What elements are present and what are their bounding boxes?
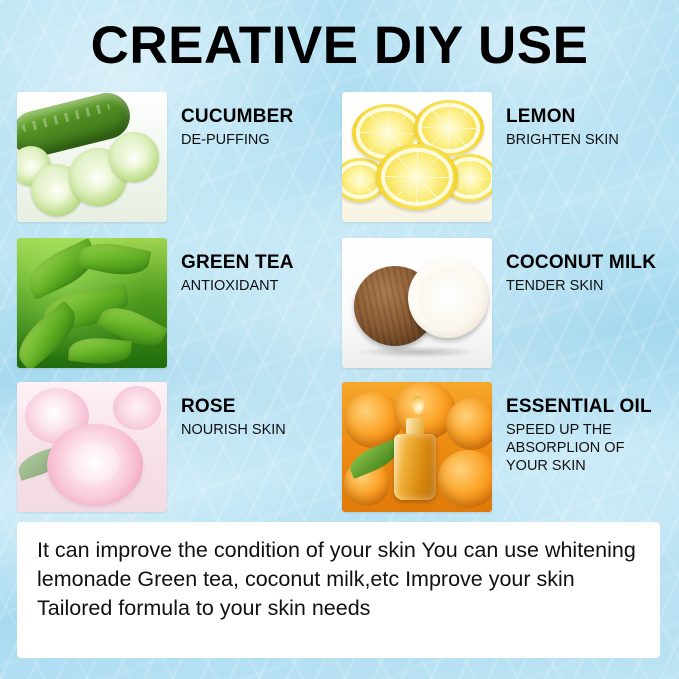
essential-oil-labels: ESSENTIAL OIL SPEED UP THE ABSORPLION OF… bbox=[492, 382, 662, 475]
cucumber-labels: CUCUMBER DE-PUFFING bbox=[167, 92, 293, 150]
product-infographic-poster: CREATIVE DIY USE CUCUMBER DE-PUFFING bbox=[0, 0, 679, 679]
cucumber-slice-shape bbox=[109, 132, 159, 182]
ingredient-benefit: NOURISH SKIN bbox=[181, 422, 286, 440]
footer-description-text: It can improve the condition of your ski… bbox=[37, 536, 642, 624]
coconut-half-shape bbox=[408, 258, 488, 338]
green-tea-labels: GREEN TEA ANTIOXIDANT bbox=[167, 238, 294, 296]
orange-fruit-shape bbox=[438, 450, 492, 508]
ingredient-item-cucumber: CUCUMBER DE-PUFFING bbox=[17, 92, 342, 238]
green-tea-leaves-photo bbox=[17, 238, 167, 368]
coconut-photo bbox=[342, 238, 492, 368]
ingredient-name: COCONUT MILK bbox=[506, 252, 656, 273]
lemon-photo bbox=[342, 92, 492, 222]
ingredient-grid: CUCUMBER DE-PUFFING LEMON BRIGHTEN SKIN bbox=[17, 92, 662, 526]
ingredient-benefit: BRIGHTEN SKIN bbox=[506, 132, 619, 150]
ingredient-item-coconut-milk: COCONUT MILK TENDER SKIN bbox=[342, 238, 662, 382]
lemon-labels: LEMON BRIGHTEN SKIN bbox=[492, 92, 619, 150]
coconut-milk-labels: COCONUT MILK TENDER SKIN bbox=[492, 238, 656, 296]
ingredient-benefit: DE-PUFFING bbox=[181, 132, 293, 150]
ingredient-item-rose: ROSE NOURISH SKIN bbox=[17, 382, 342, 526]
orange-fruit-shape bbox=[446, 398, 492, 450]
ingredient-name: LEMON bbox=[506, 106, 619, 127]
ingredient-benefit: TENDER SKIN bbox=[506, 278, 656, 296]
rose-flower-shape bbox=[47, 424, 143, 506]
essential-oil-oranges-photo bbox=[342, 382, 492, 512]
cucumber-photo bbox=[17, 92, 167, 222]
lemon-slice-shape bbox=[376, 144, 458, 210]
coconut-shadow bbox=[356, 346, 480, 358]
ingredient-benefit: SPEED UP THE ABSORPLION OF YOUR SKIN bbox=[506, 422, 662, 475]
rose-labels: ROSE NOURISH SKIN bbox=[167, 382, 286, 440]
ingredient-name: ROSE bbox=[181, 396, 286, 417]
ingredient-name: CUCUMBER bbox=[181, 106, 293, 127]
ingredient-name: GREEN TEA bbox=[181, 252, 294, 273]
rose-bud-shape bbox=[113, 386, 161, 430]
footer-description-panel: It can improve the condition of your ski… bbox=[17, 522, 660, 658]
page-title: CREATIVE DIY USE bbox=[0, 18, 679, 74]
oil-bottle-shape bbox=[394, 434, 436, 500]
ingredient-name: ESSENTIAL OIL bbox=[506, 396, 662, 417]
ingredient-item-green-tea: GREEN TEA ANTIOXIDANT bbox=[17, 238, 342, 382]
rose-photo bbox=[17, 382, 167, 512]
ingredient-item-essential-oil: ESSENTIAL OIL SPEED UP THE ABSORPLION OF… bbox=[342, 382, 662, 526]
ingredient-benefit: ANTIOXIDANT bbox=[181, 278, 294, 296]
ingredient-item-lemon: LEMON BRIGHTEN SKIN bbox=[342, 92, 662, 238]
